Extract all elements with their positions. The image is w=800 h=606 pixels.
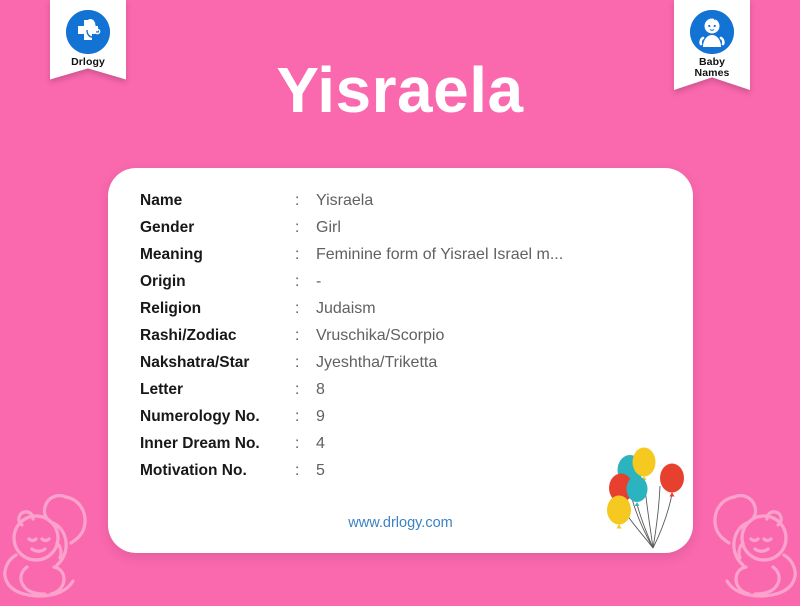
table-row: Rashi/Zodiac : Vruschika/Scorpio: [140, 327, 563, 354]
table-row: Religion : Judaism: [140, 300, 563, 327]
row-label: Motivation No.: [140, 462, 295, 480]
mother-and-baby-icon: [0, 481, 102, 606]
row-value: Girl: [316, 219, 341, 237]
row-value: Yisraela: [316, 192, 373, 210]
table-row: Letter : 8: [140, 381, 563, 408]
name-details-card: Name : Yisraela Gender : Girl Meaning : …: [108, 168, 693, 553]
row-label: Origin: [140, 273, 295, 291]
row-colon: :: [295, 192, 316, 210]
baby-face-icon: [690, 10, 734, 54]
row-label: Nakshatra/Star: [140, 354, 295, 372]
row-colon: :: [295, 435, 316, 453]
row-colon: :: [295, 354, 316, 372]
row-value: 9: [316, 408, 325, 426]
row-value: 8: [316, 381, 325, 399]
balloons-icon: [603, 444, 689, 553]
row-label: Letter: [140, 381, 295, 399]
table-row: Meaning : Feminine form of Yisrael Israe…: [140, 246, 563, 273]
row-value: 5: [316, 462, 325, 480]
row-colon: :: [295, 408, 316, 426]
drlogy-stethoscope-icon: [66, 10, 110, 54]
table-row: Name : Yisraela: [140, 192, 563, 219]
row-value: -: [316, 273, 321, 291]
row-colon: :: [295, 300, 316, 318]
row-value: Judaism: [316, 300, 376, 318]
row-colon: :: [295, 273, 316, 291]
row-label: Name: [140, 192, 295, 210]
row-colon: :: [295, 381, 316, 399]
table-row: Motivation No. : 5: [140, 462, 563, 489]
row-colon: :: [295, 327, 316, 345]
row-colon: :: [295, 219, 316, 237]
table-row: Gender : Girl: [140, 219, 563, 246]
mother-and-baby-icon: [698, 481, 800, 606]
table-row: Nakshatra/Star : Jyeshtha/Triketta: [140, 354, 563, 381]
row-label: Numerology No.: [140, 408, 295, 426]
table-row: Numerology No. : 9: [140, 408, 563, 435]
row-value: Jyeshtha/Triketta: [316, 354, 437, 372]
row-value: 4: [316, 435, 325, 453]
row-label: Religion: [140, 300, 295, 318]
poster-canvas: Drlogy Baby Names Yisraela: [0, 0, 800, 600]
page-title: Yisraela: [0, 58, 800, 122]
row-label: Gender: [140, 219, 295, 237]
row-label: Inner Dream No.: [140, 435, 295, 453]
row-label: Meaning: [140, 246, 295, 264]
row-label: Rashi/Zodiac: [140, 327, 295, 345]
row-value: Feminine form of Yisrael Israel m...: [316, 246, 563, 264]
table-row: Origin : -: [140, 273, 563, 300]
table-row: Inner Dream No. : 4: [140, 435, 563, 462]
row-colon: :: [295, 462, 316, 480]
site-link[interactable]: www.drlogy.com: [108, 515, 693, 531]
row-colon: :: [295, 246, 316, 264]
row-value: Vruschika/Scorpio: [316, 327, 444, 345]
details-table: Name : Yisraela Gender : Girl Meaning : …: [140, 192, 563, 489]
